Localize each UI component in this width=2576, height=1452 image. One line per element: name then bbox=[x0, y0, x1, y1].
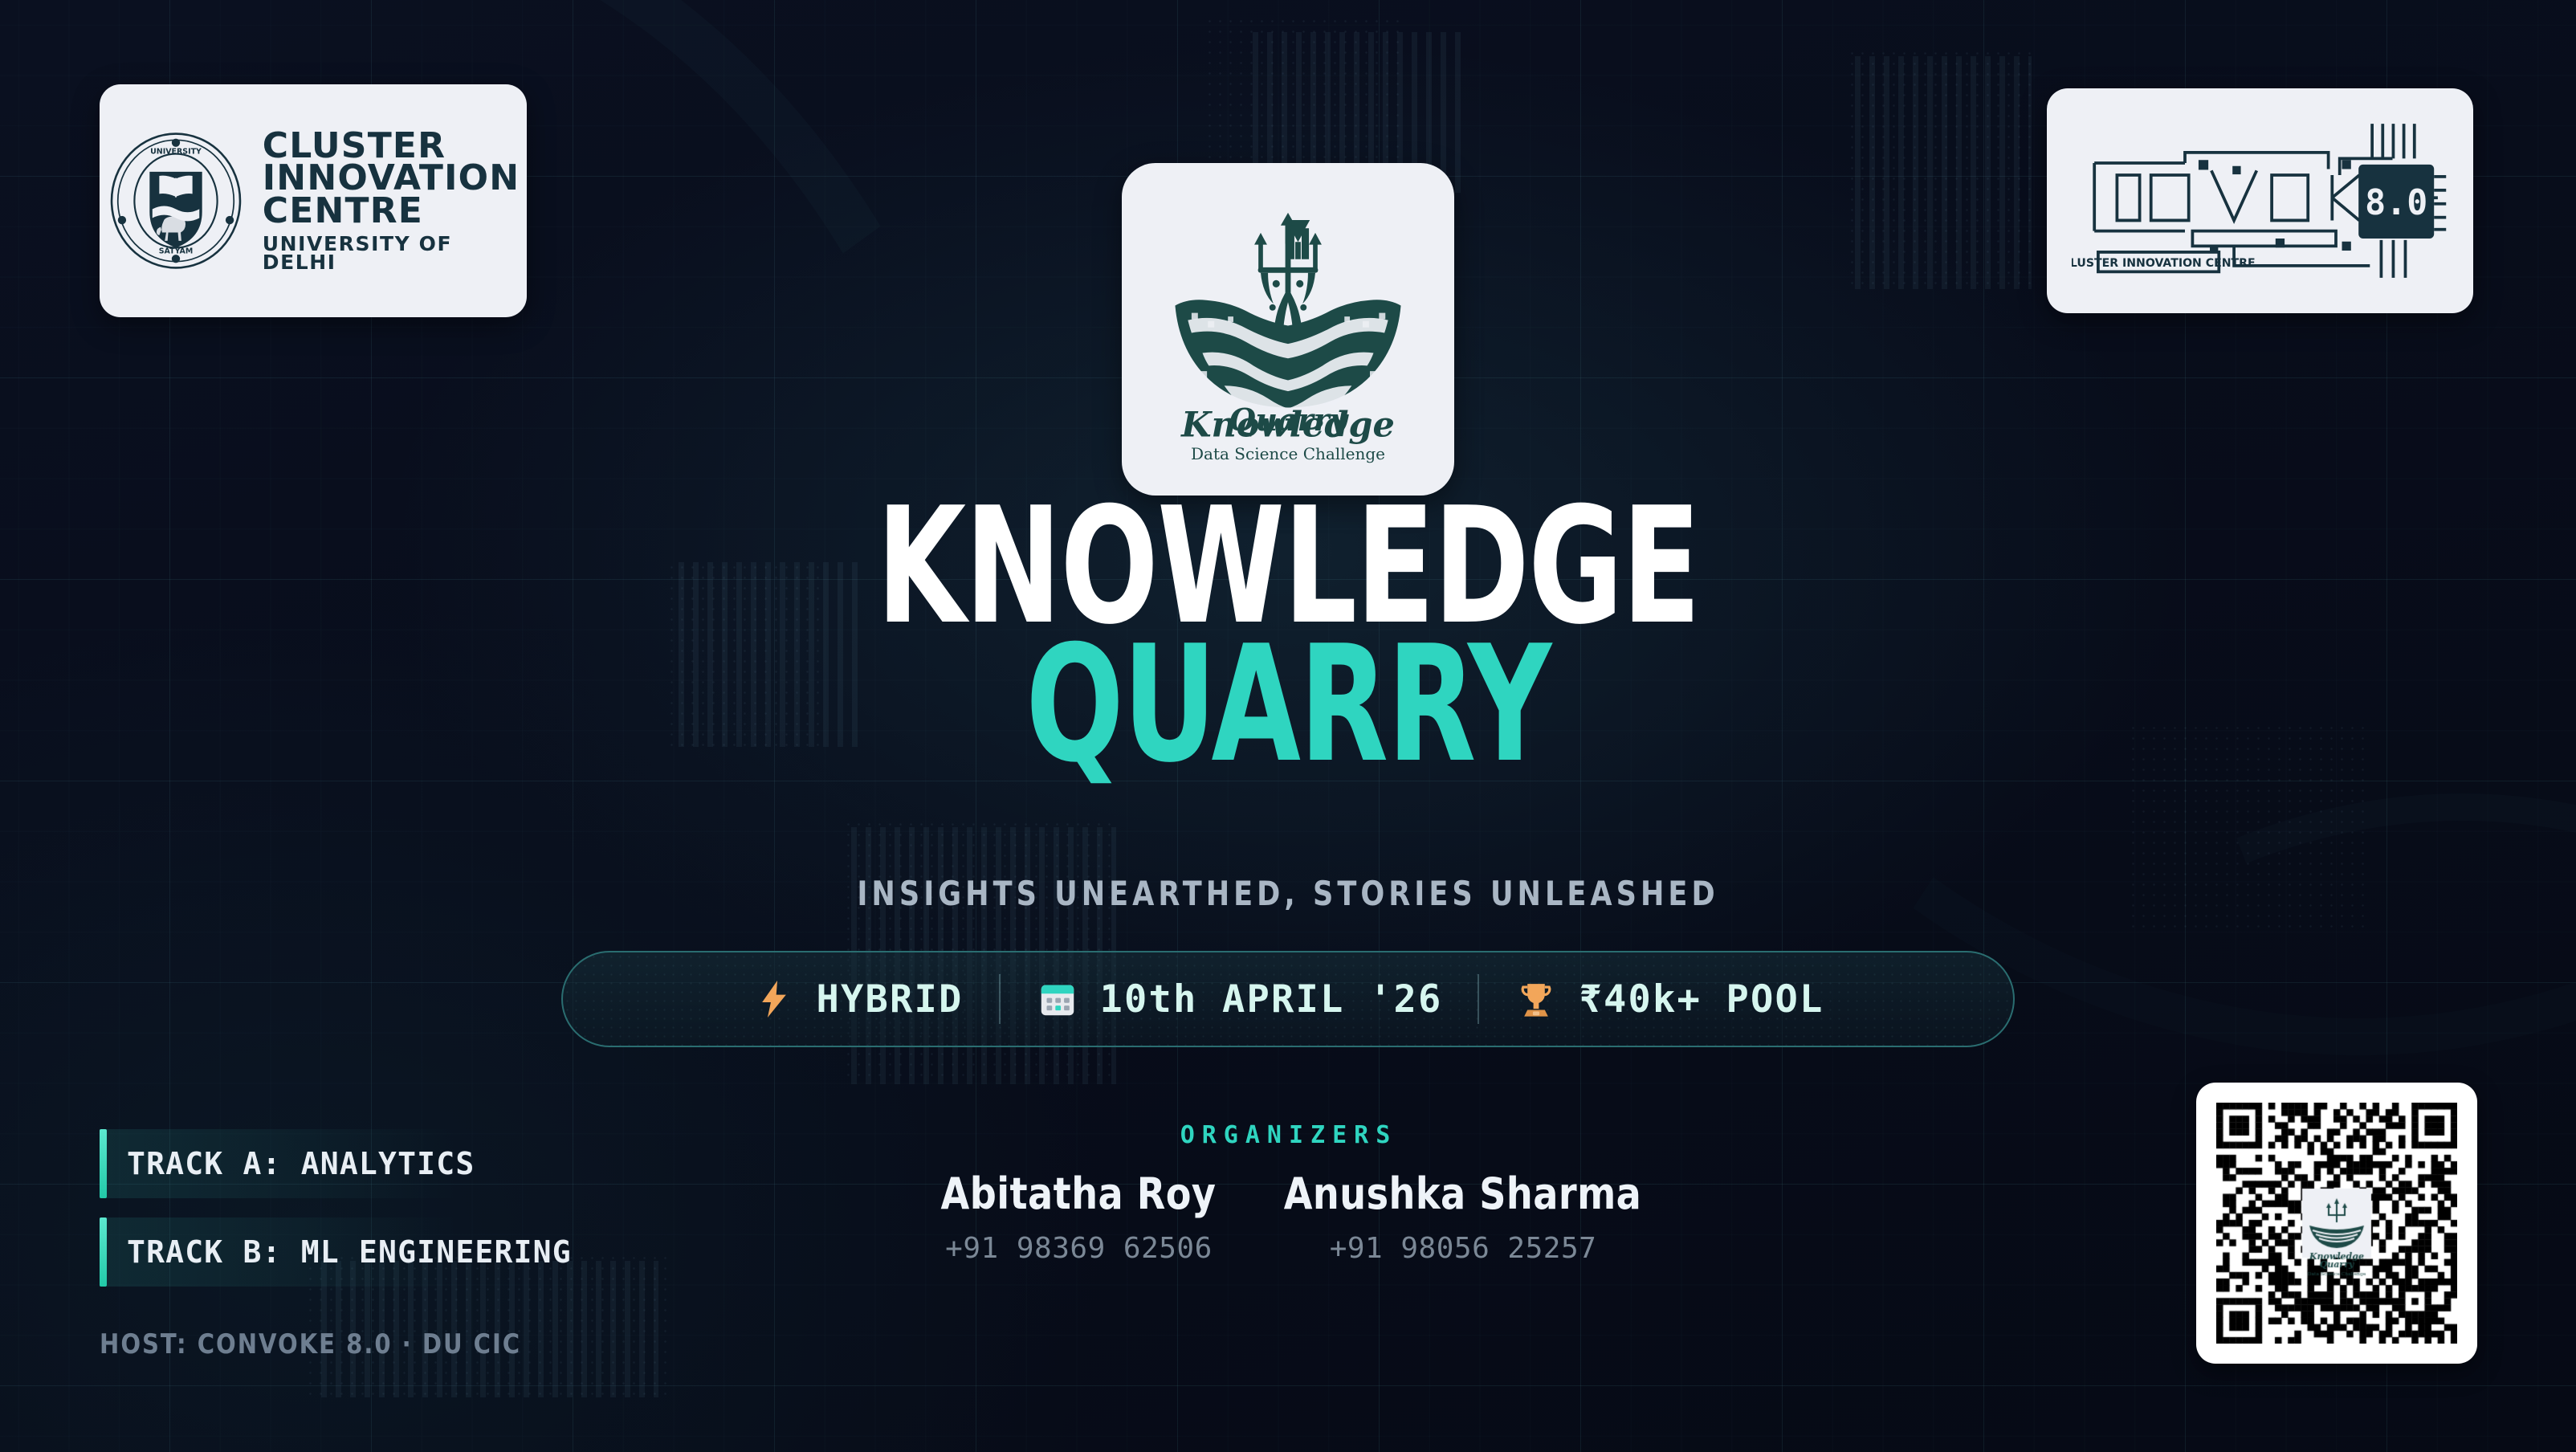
tracks-list: TRACK A: ANALYTICS TRACK B: ML ENGINEERI… bbox=[100, 1129, 678, 1306]
knowledge-quarry-logo-card: Knowledge Quarry Data Science Challenge bbox=[1122, 163, 1454, 496]
university-seal-icon: UNIVERSITY SATYAM bbox=[107, 132, 245, 270]
qr-code-icon[interactable] bbox=[2216, 1103, 2457, 1344]
background-dash-texture-5 bbox=[1855, 56, 2032, 289]
organizer-2-name: Anushka Sharma bbox=[1284, 1169, 1642, 1219]
organizer-2-phone[interactable]: +91 98056 25257 bbox=[1274, 1232, 1651, 1265]
trophy-icon bbox=[1514, 977, 1558, 1021]
organizers-label: ORGANIZERS bbox=[923, 1121, 1654, 1149]
convoke-subtitle-text: CLUSTER INNOVATION CENTRE bbox=[2072, 257, 2256, 270]
convoke-version-text: 8.0 bbox=[2365, 183, 2427, 223]
cic-subtitle: UNIVERSITY OF DELHI bbox=[263, 235, 520, 271]
headline-block: KNOWLEDGE QUARRY bbox=[0, 498, 2576, 774]
page-title-accent: QUARRY bbox=[258, 636, 2318, 774]
svg-text:SATYAM: SATYAM bbox=[158, 247, 193, 255]
cic-line-3: CENTRE bbox=[263, 195, 520, 227]
track-a-label: TRACK A: ANALYTICS bbox=[127, 1146, 475, 1181]
lightning-bolt-icon bbox=[752, 977, 796, 1021]
page-tagline: INSIGHTS UNEARTHED, STORIES UNLEASHED bbox=[90, 874, 2485, 913]
info-item-date: 10th APRIL '26 bbox=[1001, 977, 1478, 1022]
info-item-mode-label: HYBRID bbox=[817, 977, 964, 1022]
track-item-b[interactable]: TRACK B: ML ENGINEERING bbox=[100, 1217, 678, 1287]
poster-canvas: UNIVERSITY SATYAM CLUSTER INNOVATION CEN… bbox=[0, 0, 2576, 1452]
event-info-pill: HYBRID 10th APRIL '26 bbox=[561, 951, 2015, 1047]
background-dot-texture-5 bbox=[1847, 48, 2032, 289]
organizers-block: ORGANIZERS Abitatha Roy +91 98369 62506 … bbox=[923, 1121, 1654, 1265]
calendar-icon bbox=[1036, 977, 1079, 1021]
background-dot-texture-1 bbox=[1204, 16, 1405, 185]
info-item-mode: HYBRID bbox=[717, 977, 999, 1022]
convoke-circuit-logo-icon: 8.0 CLUSTER INNOVATION CENTRE bbox=[2072, 102, 2449, 300]
info-item-date-label: 10th APRIL '26 bbox=[1100, 977, 1443, 1022]
kq-name-line-2: Quarry bbox=[1122, 405, 1454, 436]
info-item-prize-label: ₹40k+ POOL bbox=[1579, 977, 1824, 1022]
track-item-a[interactable]: TRACK A: ANALYTICS bbox=[100, 1129, 678, 1198]
track-b-label: TRACK B: ML ENGINEERING bbox=[127, 1234, 572, 1270]
organizer-1-name: Abitatha Roy bbox=[934, 1169, 1224, 1219]
organizer-2: Anushka Sharma +91 98056 25257 bbox=[1274, 1169, 1651, 1265]
qr-code-card[interactable] bbox=[2196, 1083, 2477, 1364]
kq-card-tagline: Data Science Challenge bbox=[1122, 444, 1454, 463]
cic-logo-card: UNIVERSITY SATYAM CLUSTER INNOVATION CEN… bbox=[100, 84, 527, 317]
convoke-logo-card: 8.0 CLUSTER INNOVATION CENTRE bbox=[2047, 88, 2473, 313]
organizer-1: Abitatha Roy +91 98369 62506 bbox=[926, 1169, 1231, 1265]
organizer-1-phone[interactable]: +91 98369 62506 bbox=[926, 1232, 1231, 1265]
host-credit-line: HOST: CONVOKE 8.0 · DU CIC bbox=[100, 1328, 521, 1360]
svg-text:UNIVERSITY: UNIVERSITY bbox=[150, 148, 202, 157]
info-item-prize: ₹40k+ POOL bbox=[1479, 977, 1859, 1022]
